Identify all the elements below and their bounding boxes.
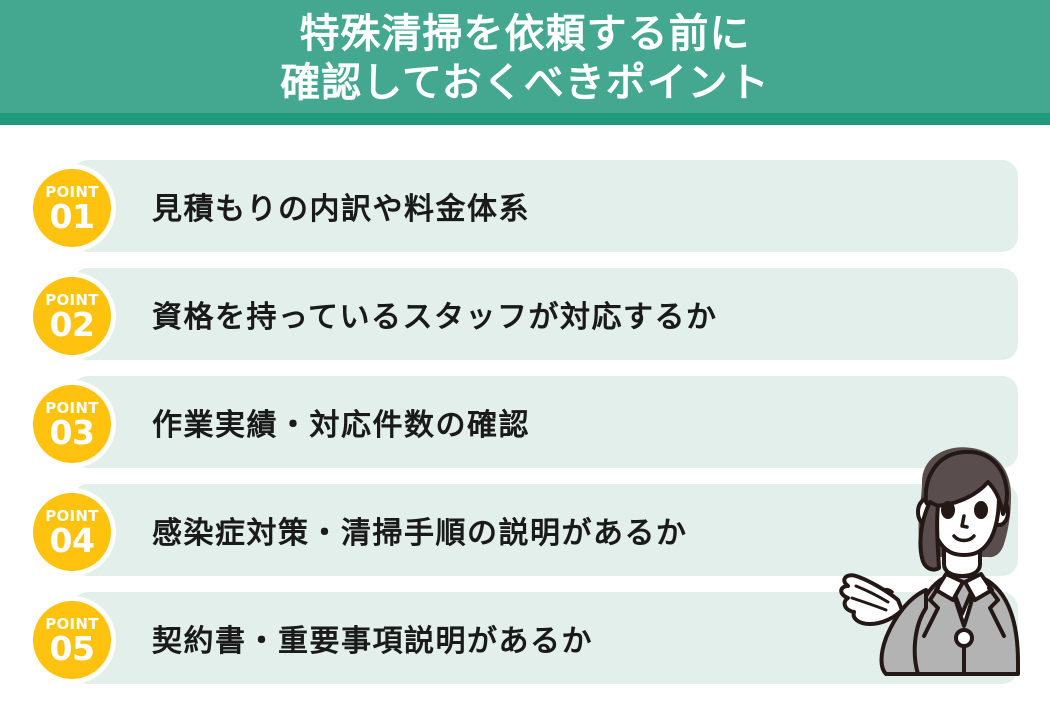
point-text: 見積もりの内訳や料金体系 bbox=[152, 160, 530, 252]
point-text: 作業実績・対応件数の確認 bbox=[152, 376, 530, 468]
page-title-line-2: 確認しておくべきポイント bbox=[280, 59, 770, 108]
point-text: 契約書・重要事項説明があるか bbox=[152, 592, 593, 684]
point-badge-ring: POINT 01 bbox=[28, 164, 116, 252]
header-accent-band bbox=[0, 113, 1050, 125]
badge-number-label: 03 bbox=[50, 416, 95, 450]
point-badge: POINT 02 bbox=[33, 277, 111, 355]
list-item[interactable]: POINT 02 資格を持っているスタッフが対応するか bbox=[0, 268, 1050, 360]
list-item[interactable]: POINT 05 契約書・重要事項説明があるか bbox=[0, 592, 1050, 684]
point-text: 資格を持っているスタッフが対応するか bbox=[152, 268, 718, 360]
point-badge-ring: POINT 05 bbox=[28, 596, 116, 684]
list-item[interactable]: POINT 03 作業実績・対応件数の確認 bbox=[0, 376, 1050, 468]
point-badge: POINT 01 bbox=[33, 169, 111, 247]
badge-number-label: 01 bbox=[50, 200, 95, 234]
point-badge-ring: POINT 02 bbox=[28, 272, 116, 360]
list-item[interactable]: POINT 01 見積もりの内訳や料金体系 bbox=[0, 160, 1050, 252]
point-badge-ring: POINT 04 bbox=[28, 488, 116, 576]
point-badge: POINT 05 bbox=[33, 601, 111, 679]
point-text: 感染症対策・清掃手順の説明があるか bbox=[152, 484, 688, 576]
list-item[interactable]: POINT 04 感染症対策・清掃手順の説明があるか bbox=[0, 484, 1050, 576]
point-badge: POINT 03 bbox=[33, 385, 111, 463]
point-badge-ring: POINT 03 bbox=[28, 380, 116, 468]
badge-number-label: 04 bbox=[50, 524, 95, 558]
page-title-line-1: 特殊清掃を依頼する前に bbox=[300, 10, 751, 59]
badge-number-label: 05 bbox=[50, 632, 95, 666]
page-header: 特殊清掃を依頼する前に 確認しておくべきポイント bbox=[0, 0, 1050, 118]
point-badge: POINT 04 bbox=[33, 493, 111, 571]
badge-number-label: 02 bbox=[50, 308, 95, 342]
points-list: POINT 01 見積もりの内訳や料金体系 POINT 02 資格を持っているス… bbox=[0, 160, 1050, 700]
